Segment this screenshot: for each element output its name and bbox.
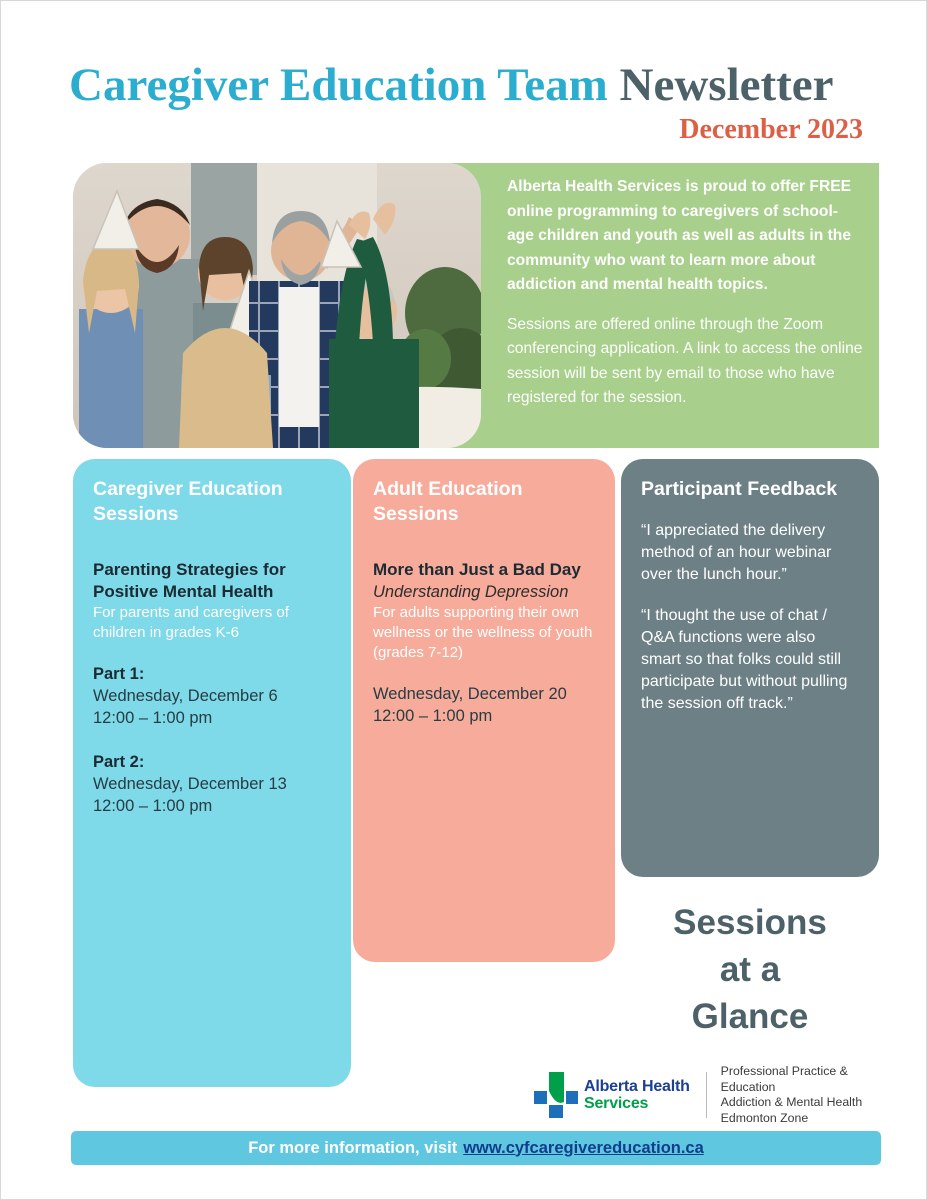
department-line-2: Addiction & Mental Health — [721, 1095, 882, 1111]
masthead: Caregiver Education Team Newsletter Dece… — [69, 59, 869, 146]
issue-date: December 2023 — [69, 114, 869, 146]
adult-session-subtitle: Understanding Depression — [373, 581, 595, 603]
caregiver-part-1: Part 1: Wednesday, December 6 12:00 – 1:… — [93, 663, 331, 729]
caregiver-part-2-time: 12:00 – 1:00 pm — [93, 795, 331, 817]
caregiver-part-2: Part 2: Wednesday, December 13 12:00 – 1… — [93, 751, 331, 817]
caregiver-session-title: Parenting Strategies for Positive Mental… — [93, 559, 331, 603]
footer-website-link[interactable]: www.cyfcaregivereducation.ca — [463, 1139, 704, 1158]
caregiver-part-1-date: Wednesday, December 6 — [93, 685, 331, 707]
adult-session-date: Wednesday, December 20 — [373, 683, 595, 705]
intro-paragraph-2: Sessions are offered online through the … — [507, 313, 863, 411]
footer-bar: For more information, visit www.cyfcareg… — [71, 1131, 881, 1165]
adult-panel-heading: Adult Education Sessions — [373, 477, 595, 527]
page-title: Caregiver Education Team Newsletter — [69, 59, 869, 111]
intro-text: Alberta Health Services is proud to offe… — [507, 175, 863, 426]
feedback-panel-heading: Participant Feedback — [641, 477, 859, 502]
department-lines: Professional Practice & Education Addict… — [721, 1064, 882, 1126]
feedback-quote-1: “I appreciated the delivery method of an… — [641, 520, 859, 586]
adult-session-time: 12:00 – 1:00 pm — [373, 705, 595, 727]
glance-line-3: Glance — [621, 993, 879, 1040]
adult-education-panel: Adult Education Sessions More than Just … — [353, 459, 615, 962]
participant-feedback-panel: Participant Feedback “I appreciated the … — [621, 459, 879, 877]
sessions-at-a-glance: Sessions at a Glance — [621, 899, 879, 1040]
alberta-health-services-wordmark: Alberta Health Services — [584, 1078, 690, 1112]
feedback-quote-2: “I thought the use of chat / Q&A functio… — [641, 605, 859, 715]
logo-name-line-1: Alberta Health — [584, 1078, 690, 1095]
caregiver-panel-heading: Caregiver Education Sessions — [93, 477, 331, 527]
adult-session-title: More than Just a Bad Day — [373, 559, 595, 581]
adult-session-schedule: Wednesday, December 20 12:00 – 1:00 pm — [373, 683, 595, 727]
newsletter-page: Caregiver Education Team Newsletter Dece… — [0, 0, 927, 1200]
hero-photo — [73, 163, 481, 448]
glance-line-1: Sessions — [621, 899, 879, 946]
logo-divider — [706, 1072, 707, 1118]
caregiver-part-1-time: 12:00 – 1:00 pm — [93, 707, 331, 729]
department-line-1: Professional Practice & Education — [721, 1064, 882, 1095]
intro-paragraph-1: Alberta Health Services is proud to offe… — [507, 175, 863, 298]
caregiver-session-audience: For parents and caregivers of children i… — [93, 603, 331, 643]
page-title-main: Caregiver Education Team — [69, 59, 608, 111]
glance-line-2: at a — [621, 946, 879, 993]
adult-session-audience: For adults supporting their own wellness… — [373, 603, 595, 663]
alberta-health-services-logo-block: Alberta Health Services Professional Pra… — [534, 1064, 882, 1126]
department-line-3: Edmonton Zone — [721, 1111, 882, 1127]
family-birthday-celebration-photo — [73, 163, 481, 448]
caregiver-education-panel: Caregiver Education Sessions Parenting S… — [73, 459, 351, 1087]
logo-name-line-2: Services — [584, 1095, 690, 1112]
footer-text: For more information, visit — [248, 1139, 457, 1158]
caregiver-part-2-date: Wednesday, December 13 — [93, 773, 331, 795]
alberta-health-services-cross-icon — [534, 1072, 578, 1118]
page-title-sub: Newsletter — [620, 59, 834, 111]
caregiver-part-2-label: Part 2: — [93, 751, 331, 773]
caregiver-part-1-label: Part 1: — [93, 663, 331, 685]
